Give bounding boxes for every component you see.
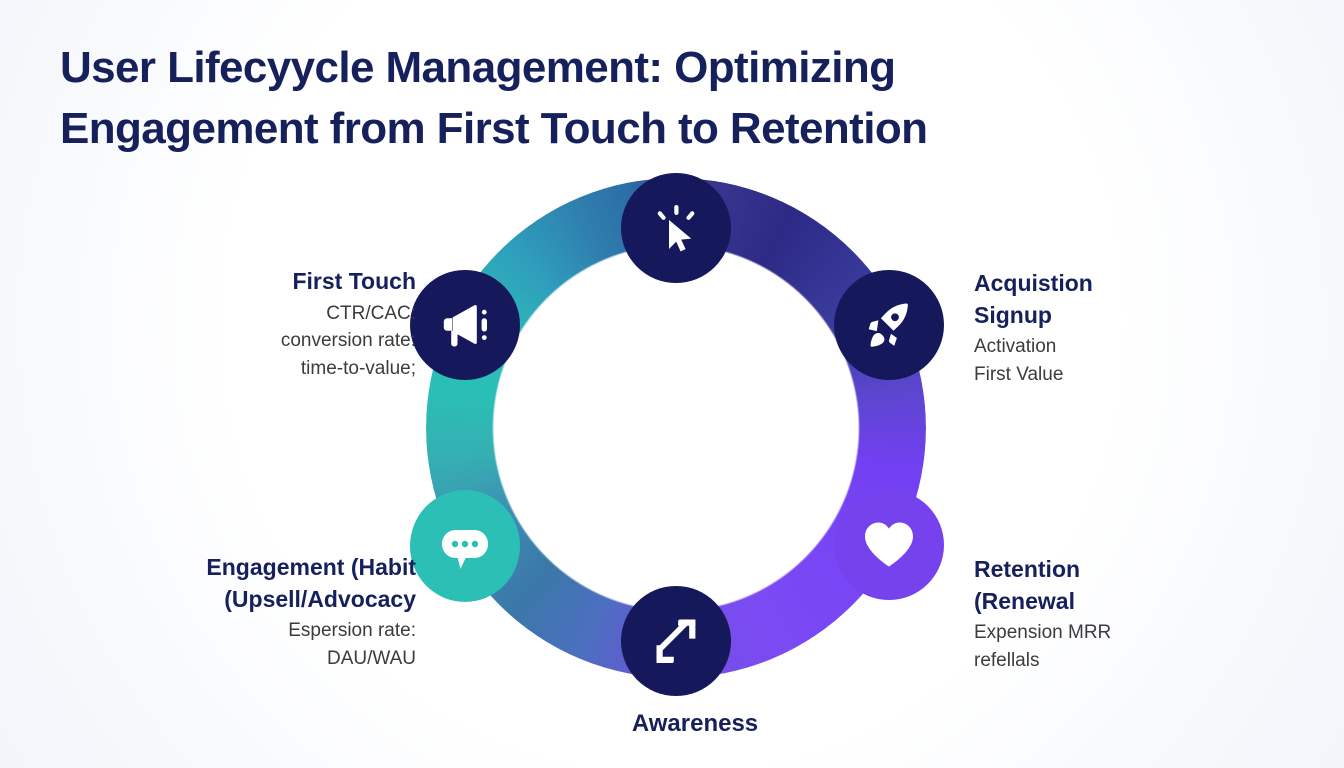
node-engagement[interactable] — [410, 490, 520, 602]
diagram-canvas: User Lifecyycle Management: Optimizing E… — [0, 0, 1344, 768]
label-engagement-title: Engagement (Habit (Upsell/Advocacy — [120, 552, 416, 615]
megaphone-icon — [436, 296, 494, 354]
node-first-touch[interactable] — [410, 270, 520, 380]
growth-arrow-icon — [648, 613, 704, 669]
label-first-touch: First Touch CTR/CAC: conversion rate: ti… — [168, 266, 416, 382]
label-acquisition: Acquistion Signup Activation First Value — [974, 268, 1234, 388]
label-retention-sub: Expension MRR refellals — [974, 619, 1254, 674]
rocket-icon — [862, 298, 916, 352]
label-acquisition-sub: Activation First Value — [974, 333, 1234, 388]
label-engagement: Engagement (Habit (Upsell/Advocacy Esper… — [120, 552, 416, 672]
label-first-touch-title: First Touch — [168, 266, 416, 298]
cursor-click-icon — [649, 201, 703, 255]
label-acquisition-title: Acquistion Signup — [974, 268, 1234, 331]
node-retention[interactable] — [834, 490, 944, 600]
node-acquisition[interactable] — [834, 270, 944, 380]
label-retention-title: Retention (Renewal — [974, 554, 1254, 617]
label-awareness: Awareness — [545, 708, 845, 741]
page-title-line-2: Engagement from First Touch to Retention — [60, 99, 1180, 160]
label-engagement-sub: Espersion rate: DAU/WAU — [120, 617, 416, 672]
page-title-line-1: User Lifecyycle Management: Optimizing — [60, 38, 1180, 99]
heart-icon — [860, 516, 918, 574]
node-awareness[interactable] — [621, 173, 731, 283]
page-title: User Lifecyycle Management: Optimizing E… — [60, 38, 1180, 159]
chat-bubble-icon — [436, 517, 494, 575]
lifecycle-diagram — [426, 178, 962, 678]
label-first-touch-sub: CTR/CAC: conversion rate: time-to-value; — [168, 300, 416, 383]
label-awareness-title: Awareness — [545, 708, 845, 741]
node-growth[interactable] — [621, 586, 731, 696]
label-retention: Retention (Renewal Expension MRR refella… — [974, 554, 1254, 674]
